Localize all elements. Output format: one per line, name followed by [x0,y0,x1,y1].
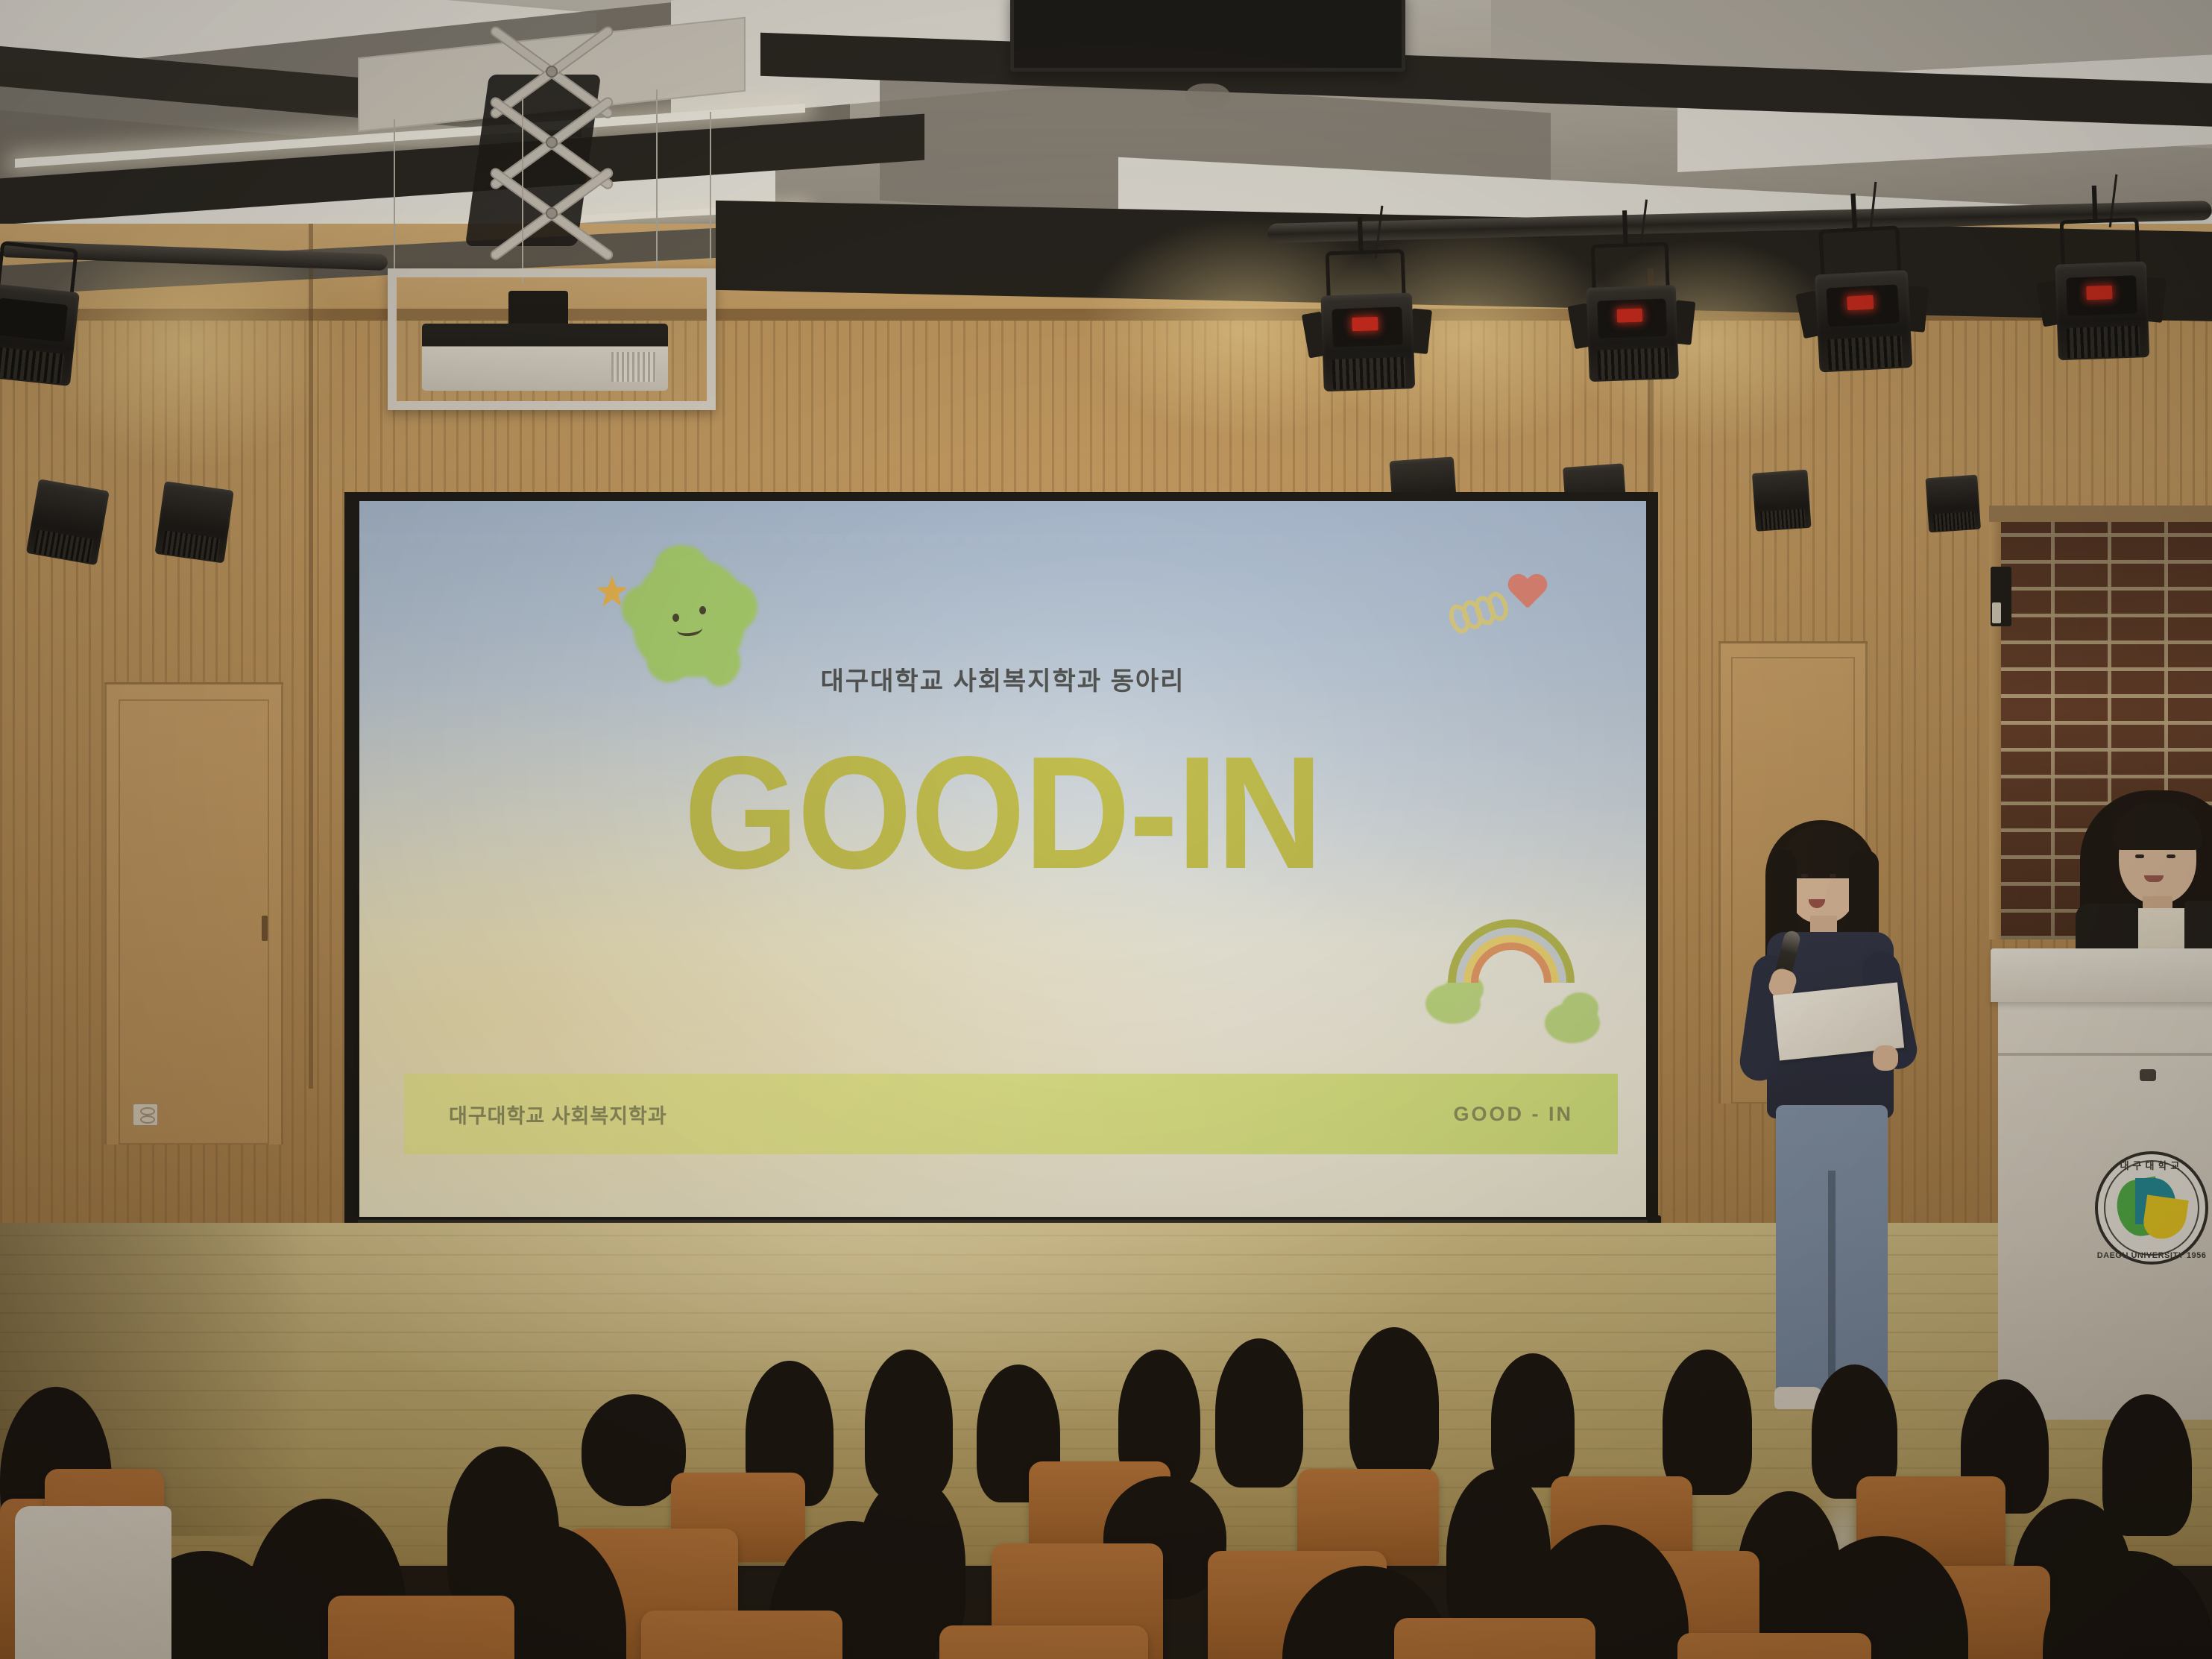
audience-area [0,1178,2212,1659]
rainbow-icon [1425,915,1597,1012]
spotlight-body [1320,293,1415,392]
stage-spotlight [0,279,81,400]
door-panel [119,699,269,1145]
spotlight-body [1586,285,1679,382]
screen-edge [1649,492,1658,1227]
audience-chair[interactable] [1677,1633,1871,1659]
slide-footer-bar: 대구대학교 사회복지학과 GOOD - IN [404,1074,1618,1154]
mascot-eye-icon [699,606,706,614]
audience-head [1491,1353,1575,1488]
spotlight-led-indicator [1617,309,1643,323]
suspension-wire [394,119,395,291]
mascot-body [634,557,746,676]
audience-chair[interactable] [939,1625,1148,1659]
spotlight-body [1752,470,1812,532]
spotlight-yoke [1591,242,1670,291]
wall-outlet-icon[interactable] [133,1104,158,1126]
spotlight-yoke [1818,225,1901,277]
heart-icon [1507,573,1548,611]
spotlight-heatsink [2067,326,2140,359]
eye-icon [1830,874,1836,878]
spotlight-heatsink [1760,509,1806,530]
audience-head [1215,1338,1303,1488]
spotlight-led-indicator [1352,317,1378,332]
scissor-mechanism [470,60,656,254]
stage-spotlight [1586,280,1679,395]
spotlight-body [154,481,233,563]
suspension-wire [656,89,658,276]
audience-head [2102,1394,2192,1536]
slide-subtitle: 대구대학교 사회복지학과 동아리 [359,661,1646,697]
stage-spotlight [1320,288,1416,405]
screen-edge [344,492,353,1230]
ceiling-monitor-panel [1010,0,1405,72]
audience-head [1663,1350,1752,1495]
podium-seam [1998,1053,2212,1056]
stage-spotlight [1925,472,1981,541]
slide-title: GOOD-IN [411,732,1595,893]
stage-door-left[interactable] [104,682,283,1145]
wall-lamp-icon [1992,602,2001,623]
audience-head [1349,1327,1439,1480]
eye-icon [2135,854,2144,858]
stage-spotlight [24,476,110,576]
podium-top-surface[interactable] [1991,948,2212,1002]
audience-chair[interactable] [1394,1618,1595,1659]
spotlight-body [1925,475,1981,533]
audience-head [582,1394,686,1506]
stage-spotlight [154,478,235,574]
scissor-pivot [546,66,558,78]
audience-chair[interactable] [328,1596,514,1659]
mascot-star-character-icon [634,557,746,676]
spotlight-heatsink [1332,357,1406,390]
ceiling-speaker-icon [1185,84,1230,109]
spotlight-heatsink [0,347,64,384]
scene-root: 대구대학교 사회복지학과 동아리 GOOD-IN 대구대학교 사회복지학과 GO… [0,0,2212,1659]
slide-footer-left-text: 대구대학교 사회복지학과 [449,1100,667,1129]
spotlight-body [0,283,80,386]
mascot-eye-icon [672,614,679,622]
spotlight-led-indicator [1847,295,1874,311]
projection-screen[interactable]: 대구대학교 사회복지학과 동아리 GOOD-IN 대구대학교 사회복지학과 GO… [359,501,1646,1217]
wall-corner [309,224,313,1089]
door-handle-icon[interactable] [262,916,268,941]
rainbow-band [1471,942,1551,1023]
slide-footer-right-text: GOOD - IN [1454,1103,1574,1126]
spotlight-heatsink [162,530,220,561]
scissor-pivot [546,207,558,219]
ceiling-projector-lift [388,45,775,529]
suspension-wire [710,112,711,283]
suspension-wire [522,97,523,283]
projector-cage [388,268,716,410]
stage-spotlight [2055,256,2150,374]
scissor-pivot [546,136,558,148]
podium-knob-icon[interactable] [2140,1069,2156,1081]
audience-jacket [15,1506,171,1659]
projector-mount [508,291,568,327]
spotlight-led-indicator [2086,286,2112,300]
spotlight-heatsink [1598,347,1670,380]
spotlight-body [1815,270,1912,372]
spotlight-yoke [1325,249,1405,299]
spotlight-heatsink [1933,511,1976,532]
spotlight-heatsink [1827,336,1903,371]
projector [422,324,668,391]
emblem-top-text: 대구대학교 [2095,1158,2208,1172]
stage-spotlight [1815,265,1914,386]
spotlight-lens-icon [0,298,68,341]
spotlight-body [2055,262,2149,361]
stage-spotlight [1752,467,1812,540]
slide-scalloped-edge [359,534,1646,553]
projector-vent-icon [611,352,656,382]
rainbow-cloud [1561,992,1598,1024]
eye-icon [2167,854,2175,858]
eye-icon [1801,874,1808,878]
hand-right [1873,1045,1898,1071]
audience-chair[interactable] [641,1611,842,1659]
spotlight-heatsink [34,529,94,563]
spotlight-yoke [2059,218,2140,268]
spotlight-body [26,479,110,565]
